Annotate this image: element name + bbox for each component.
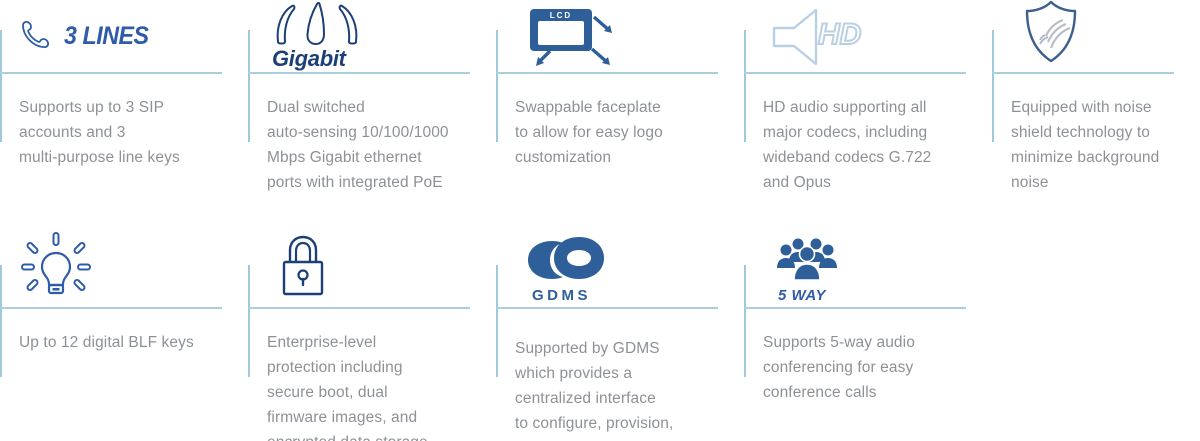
feature-card-faceplate: LCD Swappable faceplate to allow for eas… <box>496 0 744 220</box>
divider-horizontal <box>496 72 718 74</box>
icon-group <box>1022 0 1080 68</box>
gdms-cloud-icon <box>522 235 608 283</box>
feature-row-2: Up to 12 digital BLF keys Enterprise-lev… <box>0 220 1200 441</box>
divider-vertical <box>496 265 498 377</box>
feature-card-gdms: GDMS Supported by GDMS which provides a … <box>496 220 744 441</box>
icon-label: 3 LINES <box>64 22 149 51</box>
icon-group: HD <box>770 2 866 72</box>
feature-card-empty <box>992 220 1200 441</box>
divider-vertical <box>0 265 2 377</box>
lcd-faceplate-icon: LCD <box>524 5 620 71</box>
divider-vertical <box>744 265 746 377</box>
divider-vertical <box>248 265 250 377</box>
divider-vertical <box>248 30 250 142</box>
divider-horizontal <box>744 307 966 309</box>
icon-group: Gigabit <box>272 0 364 72</box>
feature-description: Supports up to 3 SIP accounts and 3 mult… <box>19 95 229 170</box>
noise-shield-icon <box>1022 0 1080 66</box>
divider-vertical <box>0 30 2 142</box>
people-group-icon <box>776 236 838 282</box>
feature-description: Swappable faceplate to allow for easy lo… <box>515 95 725 170</box>
feature-description: Supports 5-way audio conferencing for ea… <box>763 330 973 405</box>
feature-card-5-way: 5 WAY Supports 5-way audio conferencing … <box>744 220 992 441</box>
divider-horizontal <box>744 72 966 74</box>
feature-grid: 3 LINES Supports up to 3 SIP accounts an… <box>0 0 1200 441</box>
divider-horizontal <box>496 307 718 309</box>
feature-card-gigabit: Gigabit Dual switched auto-sensing 10/10… <box>248 0 496 220</box>
svg-text:LCD: LCD <box>550 11 572 20</box>
feature-card-security: Enterprise-level protection including se… <box>248 220 496 441</box>
feature-description: Enterprise-level protection including se… <box>267 330 477 441</box>
icon-group <box>278 228 330 306</box>
svg-text:HD: HD <box>818 18 861 51</box>
icon-group: 3 LINES <box>18 0 155 72</box>
divider-horizontal <box>992 72 1174 74</box>
icon-label: 5 WAY <box>778 287 826 304</box>
divider-vertical <box>496 30 498 142</box>
icon-group <box>20 226 92 306</box>
lightbulb-icon <box>20 231 92 301</box>
feature-description: Dual switched auto-sensing 10/100/1000 M… <box>267 95 477 195</box>
icon-group: LCD <box>524 4 620 72</box>
feature-description: HD audio supporting all major codecs, in… <box>763 95 973 195</box>
padlock-icon <box>278 234 330 300</box>
gigabit-swoosh-icon <box>272 2 364 46</box>
feature-card-3-lines: 3 LINES Supports up to 3 SIP accounts an… <box>0 0 248 220</box>
divider-vertical <box>744 30 746 142</box>
icon-group: GDMS <box>522 224 608 304</box>
feature-card-noise-shield: Equipped with noise shield technology to… <box>992 0 1200 220</box>
feature-description: Up to 12 digital BLF keys <box>19 330 249 355</box>
feature-description: Equipped with noise shield technology to… <box>1011 95 1196 195</box>
feature-card-blf-keys: Up to 12 digital BLF keys <box>0 220 248 441</box>
divider-horizontal <box>0 307 222 309</box>
icon-group: 5 WAY <box>776 224 838 304</box>
feature-description: Supported by GDMS which provides a centr… <box>515 336 725 441</box>
divider-vertical <box>992 30 994 142</box>
icon-label: Gigabit <box>272 46 346 72</box>
hd-speaker-icon: HD <box>770 6 866 68</box>
phone-handset-icon <box>18 16 58 56</box>
divider-horizontal <box>0 72 222 74</box>
divider-horizontal <box>248 72 470 74</box>
divider-horizontal <box>248 307 470 309</box>
feature-row-1: 3 LINES Supports up to 3 SIP accounts an… <box>0 0 1200 220</box>
feature-card-hd-audio: HD HD audio supporting all major codecs,… <box>744 0 992 220</box>
icon-label: GDMS <box>532 287 591 304</box>
